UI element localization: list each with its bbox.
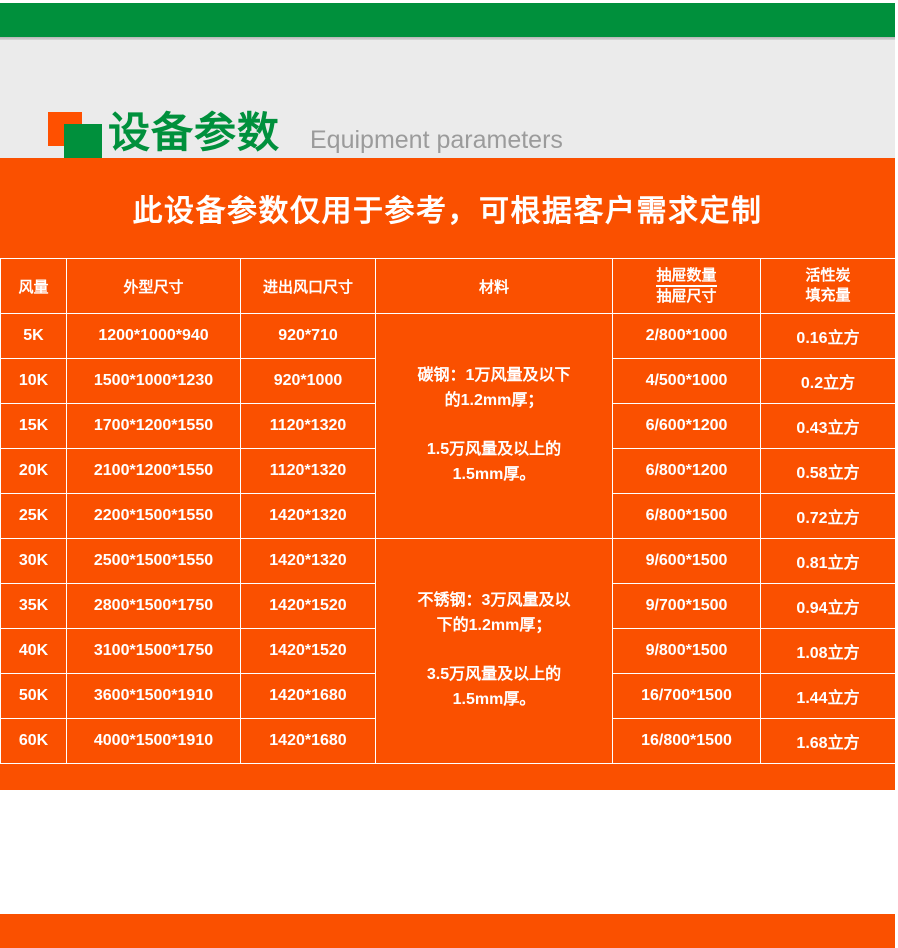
cell-dimensions: 3600*1500*1910 xyxy=(67,674,241,719)
cell-carbon: 1.44立方 xyxy=(761,674,896,719)
equipment-parameters-page: 设备参数 Equipment parameters 此设备参数仅用于参考，可根据… xyxy=(0,0,898,790)
cell-drawer: 6/800*1200 xyxy=(613,449,761,494)
cell-carbon: 0.43立方 xyxy=(761,404,896,449)
material-line1: 碳钢：1万风量及以下 xyxy=(376,364,612,389)
cell-flow: 15K xyxy=(1,404,67,449)
material-line2: 下的1.2mm厚； xyxy=(376,614,612,639)
cell-carbon: 0.58立方 xyxy=(761,449,896,494)
column-header-carbon-line1: 活性炭 xyxy=(805,266,850,286)
cell-dimensions: 2800*1500*1750 xyxy=(67,584,241,629)
cell-port-size: 1420*1520 xyxy=(241,629,376,674)
cell-dimensions: 3100*1500*1750 xyxy=(67,629,241,674)
page-subtitle: Equipment parameters xyxy=(310,124,563,156)
cell-flow: 10K xyxy=(1,359,67,404)
column-header-port-size: 进出风口尺寸 xyxy=(241,259,376,314)
cell-material-stainless-steel: 不锈钢：3万风量及以 下的1.2mm厚； 3.5万风量及以上的 1.5mm厚。 xyxy=(376,539,613,764)
cell-drawer: 4/500*1000 xyxy=(613,359,761,404)
cell-flow: 40K xyxy=(1,629,67,674)
cell-flow: 35K xyxy=(1,584,67,629)
cell-drawer: 6/800*1500 xyxy=(613,494,761,539)
cell-carbon: 0.2立方 xyxy=(761,359,896,404)
cell-carbon: 0.94立方 xyxy=(761,584,896,629)
column-header-dimensions: 外型尺寸 xyxy=(67,259,241,314)
cell-drawer: 9/600*1500 xyxy=(613,539,761,584)
cell-dimensions: 1200*1000*940 xyxy=(67,314,241,359)
table-header-row: 风量 外型尺寸 进出风口尺寸 材料 抽屉数量 抽屉尺寸 活性炭 填充量 xyxy=(1,259,896,314)
cell-flow: 20K xyxy=(1,449,67,494)
cell-drawer: 9/700*1500 xyxy=(613,584,761,629)
cell-carbon: 1.08立方 xyxy=(761,629,896,674)
cell-port-size: 920*1000 xyxy=(241,359,376,404)
material-line4: 1.5mm厚。 xyxy=(376,688,612,713)
material-line1: 不锈钢：3万风量及以 xyxy=(376,589,612,614)
top-green-bar xyxy=(0,3,895,37)
cell-flow: 50K xyxy=(1,674,67,719)
top-bar-container xyxy=(0,0,898,42)
cell-flow: 25K xyxy=(1,494,67,539)
cell-carbon: 0.81立方 xyxy=(761,539,896,584)
cell-drawer: 6/600*1200 xyxy=(613,404,761,449)
material-line3: 1.5万风量及以上的 xyxy=(376,438,612,463)
cell-dimensions: 1500*1000*1230 xyxy=(67,359,241,404)
page-title: 设备参数 xyxy=(108,108,280,158)
cell-dimensions: 2200*1500*1550 xyxy=(67,494,241,539)
column-header-drawer-count: 抽屉数量 xyxy=(656,267,716,287)
cell-drawer: 2/800*1000 xyxy=(613,314,761,359)
spec-table: 风量 外型尺寸 进出风口尺寸 材料 抽屉数量 抽屉尺寸 活性炭 填充量 xyxy=(0,258,896,764)
column-header-drawer: 抽屉数量 抽屉尺寸 xyxy=(613,259,761,314)
material-line4: 1.5mm厚。 xyxy=(376,463,612,488)
cell-port-size: 1420*1320 xyxy=(241,494,376,539)
cell-dimensions: 2500*1500*1550 xyxy=(67,539,241,584)
section-header-band: 设备参数 Equipment parameters xyxy=(0,40,895,158)
column-header-carbon: 活性炭 填充量 xyxy=(761,259,896,314)
cell-drawer: 16/700*1500 xyxy=(613,674,761,719)
cell-port-size: 1420*1680 xyxy=(241,719,376,764)
cell-port-size: 1120*1320 xyxy=(241,449,376,494)
cell-dimensions: 1700*1200*1550 xyxy=(67,404,241,449)
cell-carbon: 1.68立方 xyxy=(761,719,896,764)
spec-section: 此设备参数仅用于参考，可根据客户需求定制 风量 外型尺寸 进出风口尺寸 材料 xyxy=(0,158,895,790)
column-header-drawer-size: 抽屉尺寸 xyxy=(656,287,716,305)
cell-flow: 30K xyxy=(1,539,67,584)
material-gap xyxy=(376,639,612,663)
square-stack-logo-icon xyxy=(48,112,102,164)
cell-dimensions: 4000*1500*1910 xyxy=(67,719,241,764)
cell-drawer: 9/800*1500 xyxy=(613,629,761,674)
cell-port-size: 1420*1320 xyxy=(241,539,376,584)
material-line2: 的1.2mm厚； xyxy=(376,389,612,414)
footer-orange-band xyxy=(0,914,895,948)
cell-port-size: 1120*1320 xyxy=(241,404,376,449)
cell-flow: 5K xyxy=(1,314,67,359)
cell-port-size: 1420*1680 xyxy=(241,674,376,719)
cell-flow: 60K xyxy=(1,719,67,764)
cell-port-size: 1420*1520 xyxy=(241,584,376,629)
cell-carbon: 0.16立方 xyxy=(761,314,896,359)
spec-banner-text: 此设备参数仅用于参考，可根据客户需求定制 xyxy=(133,186,763,230)
column-header-material: 材料 xyxy=(376,259,613,314)
spec-banner: 此设备参数仅用于参考，可根据客户需求定制 xyxy=(0,158,895,258)
column-header-flow: 风量 xyxy=(1,259,67,314)
cell-drawer: 16/800*1500 xyxy=(613,719,761,764)
cell-dimensions: 2100*1200*1550 xyxy=(67,449,241,494)
material-gap xyxy=(376,414,612,438)
table-row: 5K 1200*1000*940 920*710 碳钢：1万风量及以下 的1.2… xyxy=(1,314,896,359)
material-line3: 3.5万风量及以上的 xyxy=(376,663,612,688)
table-row: 30K 2500*1500*1550 1420*1320 不锈钢：3万风量及以 … xyxy=(1,539,896,584)
cell-material-carbon-steel: 碳钢：1万风量及以下 的1.2mm厚； 1.5万风量及以上的 1.5mm厚。 xyxy=(376,314,613,539)
cell-carbon: 0.72立方 xyxy=(761,494,896,539)
column-header-carbon-line2: 填充量 xyxy=(805,286,850,306)
cell-port-size: 920*710 xyxy=(241,314,376,359)
